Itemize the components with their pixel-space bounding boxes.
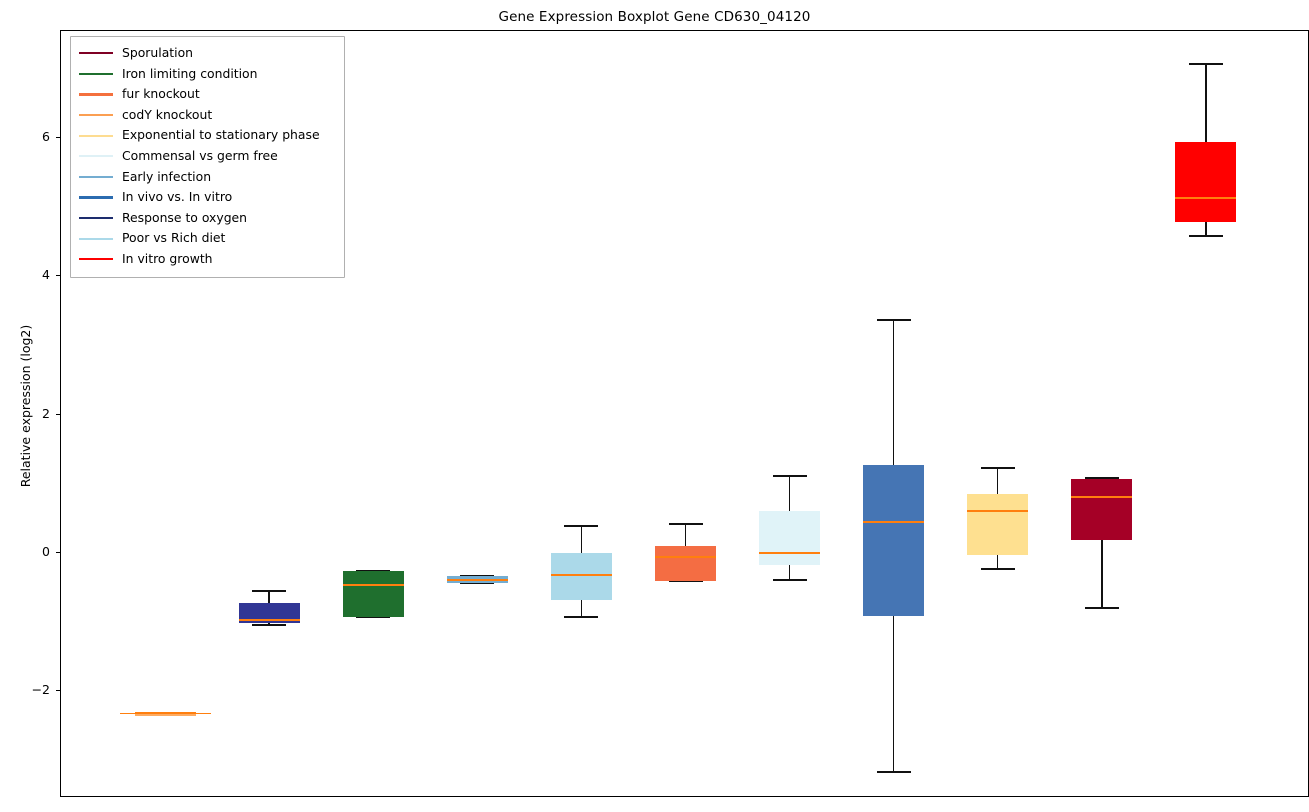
median-line [655, 556, 716, 558]
legend-item[interactable]: Poor vs Rich diet [79, 228, 336, 249]
whisker-cap-upper [669, 523, 703, 525]
boxplot-box[interactable] [967, 31, 1028, 798]
legend-color-swatch [79, 258, 113, 260]
legend-color-swatch [79, 217, 113, 219]
median-line [1175, 197, 1236, 199]
legend-item-label: In vivo vs. In vitro [122, 191, 232, 203]
box-body[interactable] [863, 465, 924, 616]
boxplot-box[interactable] [655, 31, 716, 798]
median-line [1071, 496, 1132, 498]
y-tick-mark [56, 275, 61, 276]
y-tick-label: 4 [18, 267, 50, 282]
legend-color-swatch [79, 52, 113, 54]
median-line [759, 552, 820, 554]
legend-item[interactable]: Sporulation [79, 43, 336, 64]
legend-item-label: Sporulation [122, 47, 193, 59]
whisker-line-lower [789, 565, 790, 580]
whisker-cap-upper [773, 475, 807, 477]
y-tick-mark [56, 690, 61, 691]
boxplot-box[interactable] [343, 31, 404, 798]
whisker-cap-lower [1189, 235, 1223, 237]
median-line [967, 510, 1028, 512]
y-tick-label: 2 [18, 406, 50, 421]
box-body[interactable] [655, 546, 716, 581]
legend-item[interactable]: Early infection [79, 167, 336, 188]
whisker-line-lower [893, 616, 894, 771]
legend-color-swatch [79, 114, 113, 116]
median-line [239, 619, 300, 621]
whisker-cap-upper [877, 319, 911, 321]
legend-color-swatch [79, 238, 113, 240]
whisker-line-upper [789, 476, 790, 511]
legend-color-swatch [79, 135, 113, 137]
whisker-line-upper [581, 526, 582, 553]
chart-root: Gene Expression Boxplot Gene CD630_04120… [0, 0, 1309, 812]
legend-item-label: codY knockout [122, 109, 212, 121]
legend-item[interactable]: Exponential to stationary phase [79, 125, 336, 146]
legend-item-label: Iron limiting condition [122, 68, 258, 80]
boxplot-box[interactable] [447, 31, 508, 798]
whisker-line-lower [1101, 540, 1102, 608]
whisker-cap-upper [981, 467, 1015, 469]
whisker-line-upper [997, 468, 998, 494]
legend-item[interactable]: codY knockout [79, 105, 336, 126]
whisker-cap-upper [252, 590, 286, 592]
boxplot-box[interactable] [863, 31, 924, 798]
boxplot-box[interactable] [759, 31, 820, 798]
legend: SporulationIron limiting conditionfur kn… [70, 36, 345, 278]
median-line [447, 579, 508, 581]
legend-item-label: Exponential to stationary phase [122, 129, 320, 141]
whisker-line-upper [685, 524, 686, 547]
boxplot-box[interactable] [1175, 31, 1236, 798]
whisker-cap-lower [252, 624, 286, 626]
median-line [863, 521, 924, 523]
legend-item-label: Early infection [122, 171, 211, 183]
median-line [551, 574, 612, 576]
whisker-line-upper [268, 591, 269, 603]
whisker-line-upper [1205, 64, 1206, 142]
legend-color-swatch [79, 176, 113, 178]
box-body[interactable] [967, 494, 1028, 555]
box-body[interactable] [1175, 142, 1236, 221]
whisker-line-upper [893, 320, 894, 465]
whisker-cap-upper [564, 525, 598, 527]
whisker-cap-lower [1085, 607, 1119, 609]
legend-color-swatch [79, 155, 113, 157]
legend-item[interactable]: fur knockout [79, 84, 336, 105]
legend-item[interactable]: In vivo vs. In vitro [79, 187, 336, 208]
legend-item-label: fur knockout [122, 88, 200, 100]
whisker-line-lower [997, 555, 998, 569]
legend-item[interactable]: Commensal vs germ free [79, 146, 336, 167]
y-tick-label: 6 [18, 129, 50, 144]
whisker-cap-lower [564, 616, 598, 618]
whisker-cap-lower [981, 568, 1015, 570]
boxplot-box[interactable] [1071, 31, 1132, 798]
legend-color-swatch [79, 93, 113, 95]
boxplot-box[interactable] [551, 31, 612, 798]
legend-item-label: Poor vs Rich diet [122, 232, 225, 244]
y-tick-mark [56, 137, 61, 138]
legend-item-label: Response to oxygen [122, 212, 247, 224]
legend-item-label: Commensal vs germ free [122, 150, 278, 162]
whisker-line-lower [581, 600, 582, 617]
box-body[interactable] [1071, 479, 1132, 540]
legend-item[interactable]: Iron limiting condition [79, 64, 336, 85]
whisker-cap-upper [1189, 63, 1223, 65]
y-tick-label: 0 [18, 544, 50, 559]
y-tick-mark [56, 552, 61, 553]
legend-item-label: In vitro growth [122, 253, 213, 265]
y-tick-label: −2 [18, 682, 50, 697]
median-line [343, 584, 404, 586]
flat-box-line [120, 713, 211, 715]
legend-item[interactable]: In vitro growth [79, 249, 336, 270]
whisker-cap-lower [773, 579, 807, 581]
legend-color-swatch [79, 73, 113, 75]
legend-color-swatch [79, 196, 113, 198]
whisker-line-lower [1205, 222, 1206, 237]
chart-title: Gene Expression Boxplot Gene CD630_04120 [0, 9, 1309, 25]
box-body[interactable] [759, 511, 820, 566]
whisker-cap-lower [877, 771, 911, 773]
box-body[interactable] [343, 571, 404, 617]
box-body[interactable] [551, 553, 612, 600]
y-tick-mark [56, 414, 61, 415]
legend-item[interactable]: Response to oxygen [79, 208, 336, 229]
